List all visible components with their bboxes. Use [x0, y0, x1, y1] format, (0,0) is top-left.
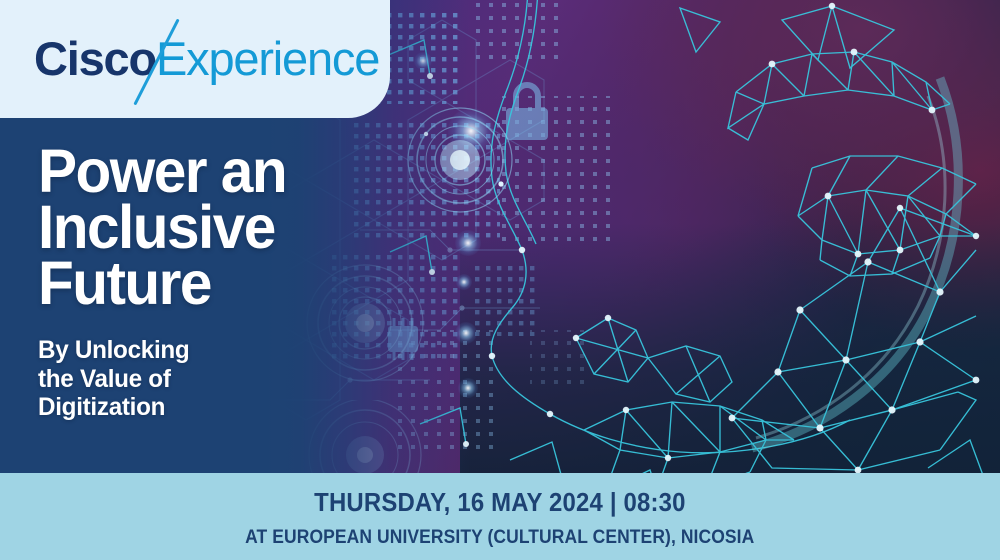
- subhead-line-3: Digitization: [38, 393, 426, 422]
- page-title: Power an Inclusive Future: [38, 143, 422, 311]
- event-date-time: THURSDAY, 16 MAY 2024 | 08:30: [314, 487, 685, 518]
- event-banner: CiscoExperience Power an Inclusive Futur…: [0, 0, 1000, 560]
- event-details-bar: THURSDAY, 16 MAY 2024 | 08:30 AT EUROPEA…: [0, 473, 1000, 560]
- headline-line-3: Future: [38, 255, 422, 311]
- logo-cisco-text: Cisco: [34, 32, 156, 85]
- logo-experience-text: Experience: [156, 32, 379, 85]
- logo-plate[interactable]: CiscoExperience: [0, 0, 390, 118]
- subhead-line-1: By Unlocking: [38, 336, 426, 365]
- headline-line-1: Power an: [38, 143, 422, 199]
- subhead-line-2: the Value of: [38, 365, 426, 394]
- headline-line-2: Inclusive: [38, 199, 422, 255]
- event-venue: AT EUROPEAN UNIVERSITY (CULTURAL CENTER)…: [245, 527, 754, 549]
- headline-block: Power an Inclusive Future By Unlocking t…: [38, 143, 438, 422]
- page-subtitle: By Unlocking the Value of Digitization: [38, 336, 426, 422]
- cisco-experience-logo[interactable]: CiscoExperience: [34, 27, 379, 91]
- logo-wordmark: CiscoExperience: [34, 27, 379, 91]
